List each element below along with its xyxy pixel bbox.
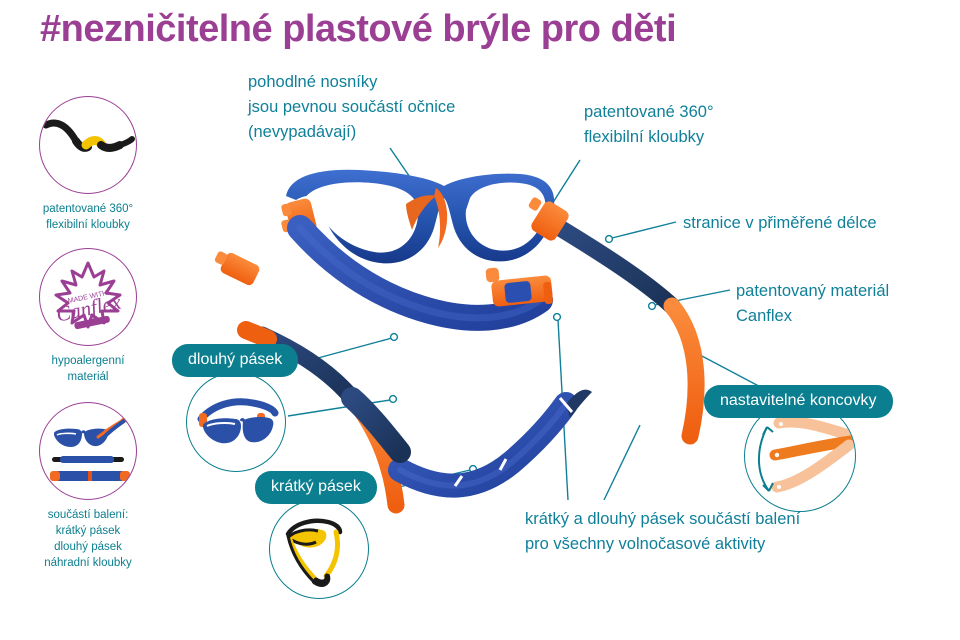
badge-short-strap[interactable]: krátký pásek <box>255 471 377 504</box>
badge-adjustable-tips[interactable]: nastavitelné koncovky <box>704 385 893 418</box>
glasses-with-long-strap-icon <box>187 373 285 471</box>
glasses-with-short-cord-icon <box>270 500 368 598</box>
detail-circle-long-strap <box>186 372 286 472</box>
infographic-canvas: #nezničitelné plastové brýle pro děti <box>0 0 960 640</box>
badge-long-strap[interactable]: dlouhý pásek <box>172 344 298 377</box>
product-illustration <box>0 0 960 640</box>
detail-circle-short-strap <box>269 499 369 599</box>
